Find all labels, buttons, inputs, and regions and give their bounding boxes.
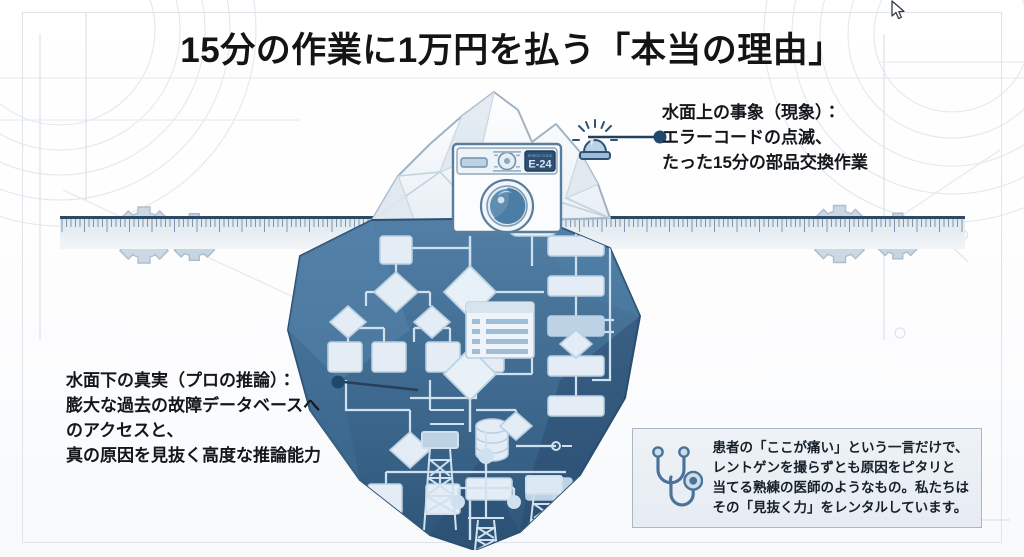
data-table-icon: [466, 302, 534, 358]
callout-line-2: レントゲンを撮らずとも原因をピタリと: [713, 458, 970, 478]
annotation-below-water-line-4: 真の原因を見抜く高度な推論能力: [66, 443, 321, 468]
lattice-tower-icon: [526, 476, 562, 546]
callout-line-1: 患者の「ここが痛い」という一言だけで、: [713, 438, 970, 458]
error-display-caption: ERROR CODE: [528, 154, 553, 158]
analogy-callout-text: 患者の「ここが痛い」という一言だけで、 レントゲンを撮らずとも原因をピタリと 当…: [713, 438, 970, 518]
washer-door: [481, 180, 533, 232]
page-title: 15分の作業に1万円を払う「本当の理由」: [0, 22, 1024, 73]
annotation-below-water-line-1: 水面下の真実（プロの推論）：: [66, 368, 321, 393]
annotation-above-water-line-3: たった15分の部品交換作業: [662, 150, 868, 175]
error-display-code: E-24: [528, 159, 552, 171]
annotation-below-water-line-2: 膨大な過去の故障データベースへ: [66, 393, 321, 418]
control-knob: [499, 153, 516, 170]
analogy-callout-box: 患者の「ここが痛い」という一言だけで、 レントゲンを撮らずとも原因をピタリと 当…: [632, 428, 982, 528]
stethoscope-icon: [645, 439, 703, 517]
alarm-beacon-icon: [570, 118, 620, 164]
annotation-above-water-line-2: エラーコードの点滅、: [662, 125, 868, 150]
washing-machine-icon: ERROR CODE E-24: [451, 142, 563, 234]
annotation-above-water: 水面上の事象（現象）： エラーコードの点滅、 たった15分の部品交換作業: [662, 100, 868, 175]
callout-line-3: 当てる熟練の医師のようなもの。私たちは: [713, 478, 970, 498]
iceberg-below-water: [280, 202, 660, 550]
annotation-above-water-line-1: 水面上の事象（現象）：: [662, 100, 868, 125]
error-display: ERROR CODE E-24: [525, 151, 555, 171]
annotation-below-water-line-3: のアクセスと、: [66, 418, 321, 443]
callout-line-4: その「見抜く力」をレンタルしています。: [713, 498, 970, 518]
mouse-cursor-icon: [891, 0, 907, 22]
beacon-rays: [573, 120, 617, 140]
annotation-below-water: 水面下の真実（プロの推論）： 膨大な過去の故障データベースへ のアクセスと、 真…: [66, 368, 321, 468]
infographic-canvas: 15分の作業に1万円を払う「本当の理由」: [0, 0, 1024, 557]
